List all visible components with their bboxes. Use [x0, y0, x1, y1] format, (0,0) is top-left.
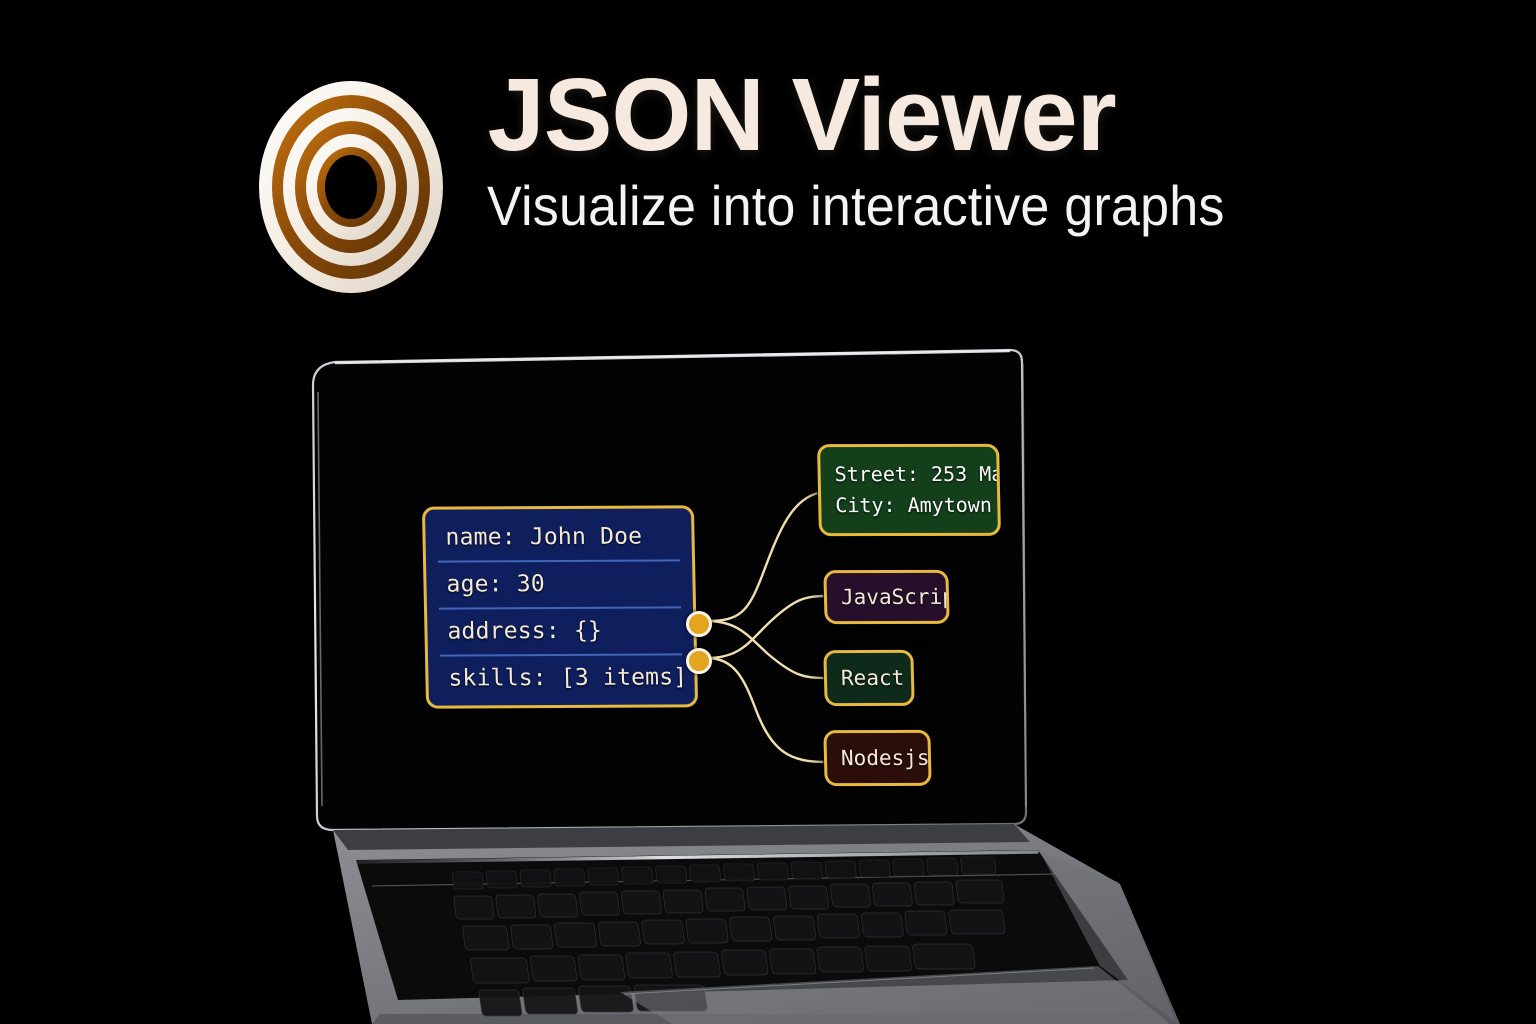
address-city-line: City: Amytown	[835, 490, 998, 521]
skills-port-handle[interactable]	[686, 648, 712, 674]
skill-label: JavaScript	[841, 585, 950, 609]
skill-node-react[interactable]: React	[823, 650, 914, 706]
address-port-handle[interactable]	[686, 611, 712, 637]
node-row-label: name: John Doe	[445, 523, 642, 550]
node-row-label: skills: [3 items]	[448, 664, 687, 691]
skill-node-nodejs[interactable]: Nodesjs	[823, 730, 931, 786]
address-street-line: Street: 253 Main	[834, 459, 997, 490]
address-node[interactable]: Street: 253 Main City: Amytown	[817, 444, 1001, 536]
edge-skill-react	[707, 621, 826, 678]
skill-label: React	[841, 666, 905, 690]
node-row-age[interactable]: age: 30	[426, 559, 693, 607]
skill-node-javascript[interactable]: JavaScript	[823, 570, 949, 624]
node-row-skills[interactable]: skills: [3 items]	[428, 653, 695, 701]
node-row-name[interactable]: name: John Doe	[425, 512, 692, 560]
graph-edges	[0, 0, 1536, 1024]
edge-skill-javascript	[707, 596, 828, 658]
json-graph-canvas[interactable]: name: John Doe age: 30 address: {} skill…	[0, 0, 1536, 1024]
person-object-node[interactable]: name: John Doe age: 30 address: {} skill…	[422, 505, 698, 708]
edge-address	[707, 492, 822, 621]
node-row-label: address: {}	[447, 617, 602, 644]
skill-label: Nodesjs	[841, 746, 930, 770]
edge-skill-nodejs	[707, 658, 826, 762]
node-row-label: age: 30	[446, 571, 545, 598]
node-row-address[interactable]: address: {}	[427, 606, 694, 654]
